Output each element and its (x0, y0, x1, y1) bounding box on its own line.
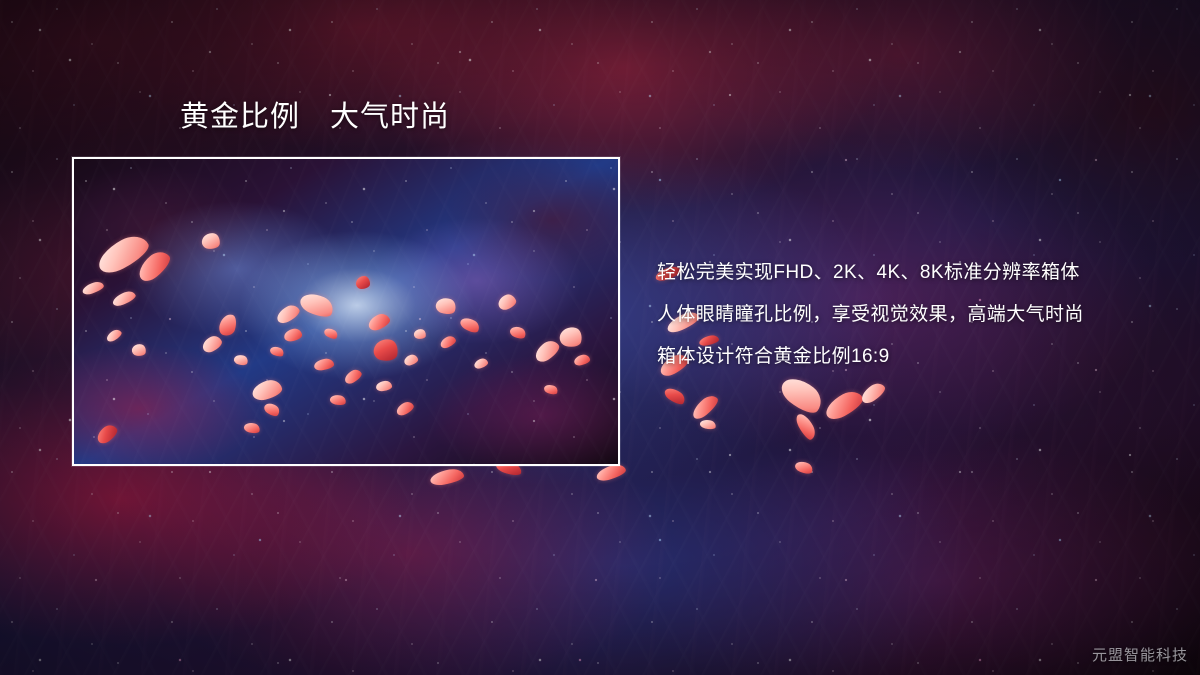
body-line-3: 箱体设计符合黄金比例16:9 (657, 336, 1157, 378)
page-title: 黄金比例 大气时尚 (180, 101, 450, 134)
slide-canvas: 黄金比例 大气时尚 轻松完美实现FHD、2K、4K、8K标准分辨率箱体 人体眼睛… (0, 0, 1200, 675)
framed-photo (72, 157, 620, 466)
watermark-label: 元盟智能科技 (1092, 644, 1188, 665)
body-line-1: 轻松完美实现FHD、2K、4K、8K标准分辨率箱体 (657, 252, 1157, 294)
petal (356, 276, 370, 289)
body-line-2: 人体眼睛瞳孔比例，享受视觉效果，高端大气时尚 (657, 294, 1157, 336)
body-copy-block: 轻松完美实现FHD、2K、4K、8K标准分辨率箱体 人体眼睛瞳孔比例，享受视觉效… (657, 252, 1157, 378)
photo-filaments (74, 159, 618, 464)
